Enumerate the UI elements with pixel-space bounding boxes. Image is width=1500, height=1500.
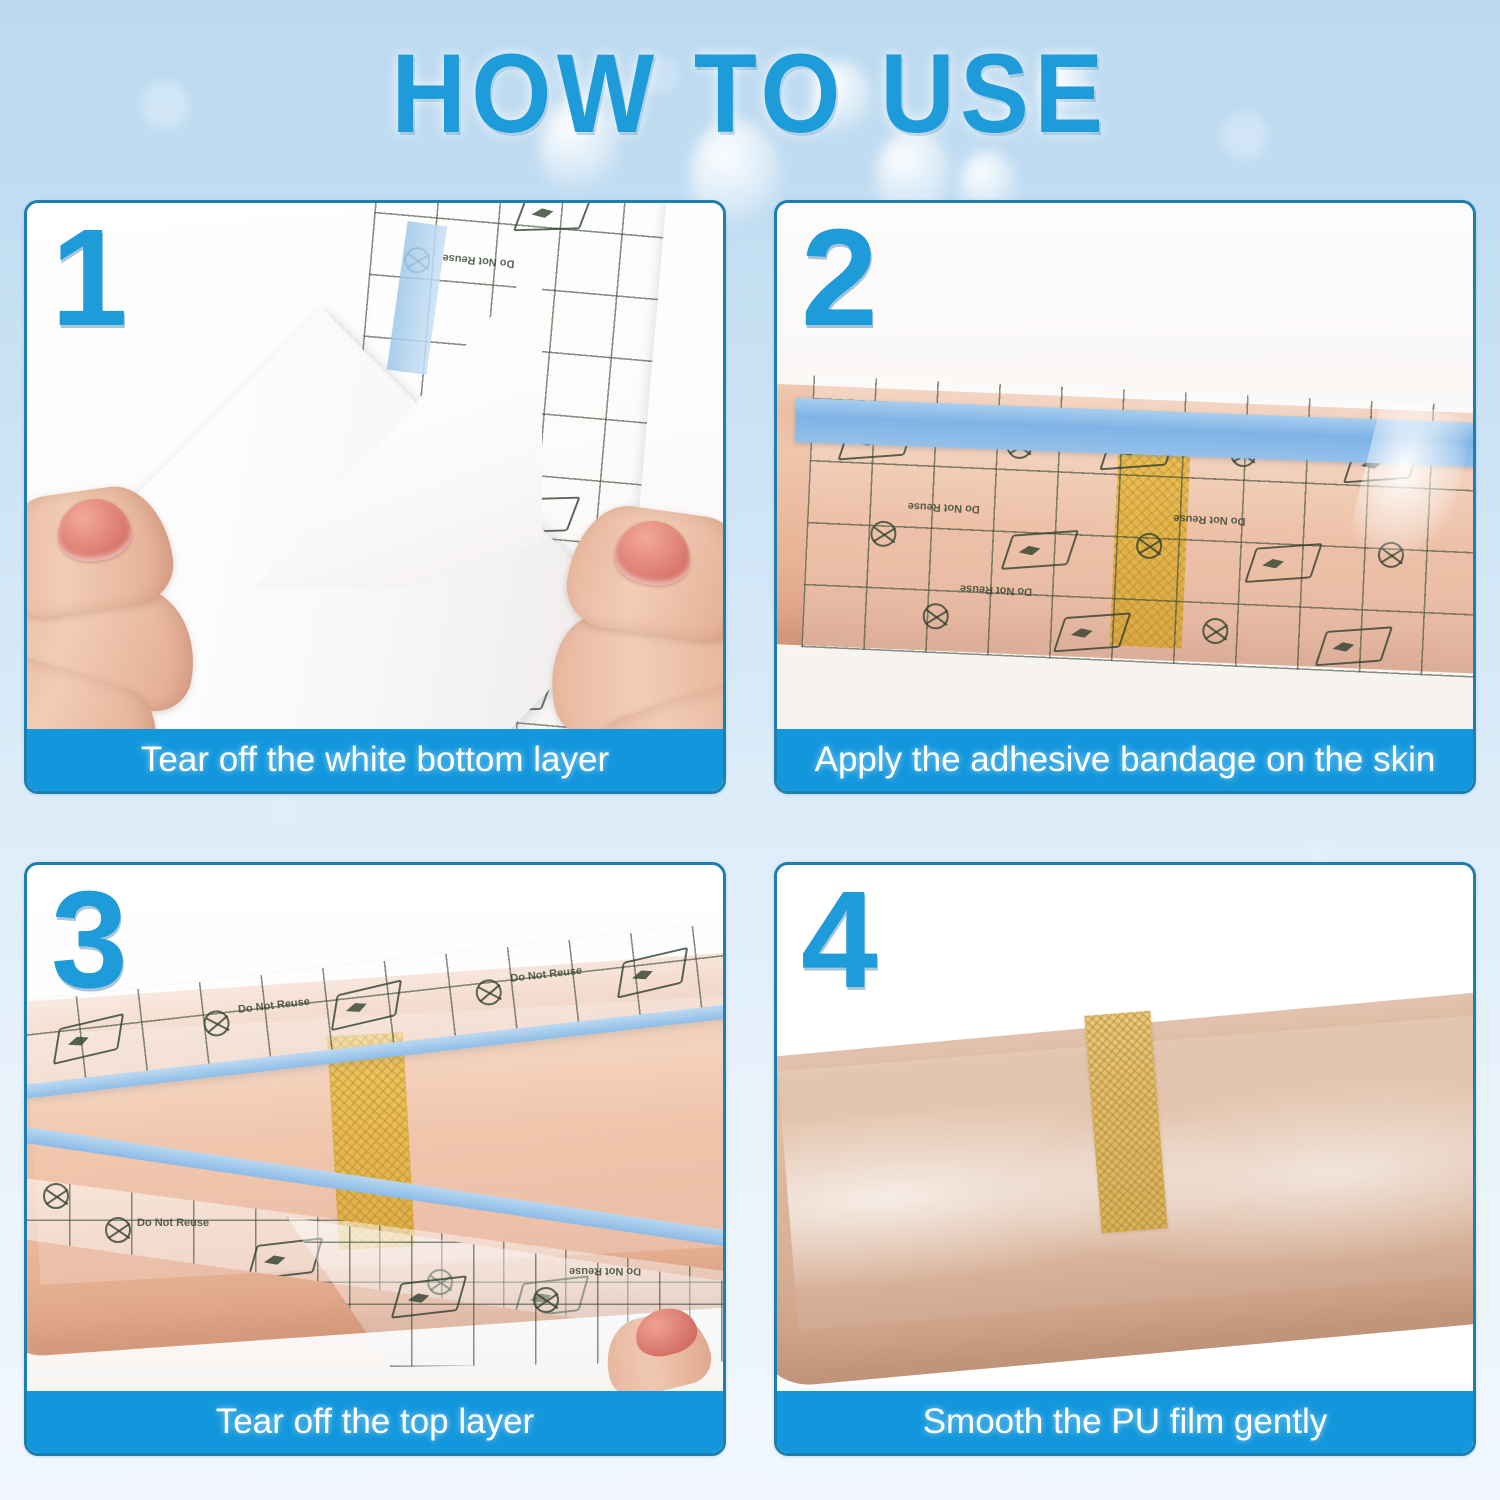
no-reuse-icon [1202, 617, 1229, 644]
no-reuse-icon [105, 1217, 131, 1243]
right-hand [453, 503, 723, 729]
peel-hand-icon [1053, 612, 1132, 652]
no-reuse-icon [43, 1183, 69, 1209]
peel-hand-icon [1244, 543, 1323, 583]
no-reuse-icon [533, 1287, 559, 1313]
left-hand [27, 483, 299, 729]
film-print-label: Do Not Reuse [237, 996, 310, 1016]
no-reuse-icon [1136, 532, 1163, 559]
gauze-pad [327, 1032, 415, 1250]
no-reuse-icon [474, 978, 503, 1007]
film-print-label: Do Not Reuse [510, 965, 583, 985]
step-panel-4[interactable]: 4 Smooth the PU film gently [774, 862, 1476, 1456]
step-4-photo [777, 865, 1473, 1391]
peel-hand-icon [513, 203, 593, 231]
peel-hand-icon [1314, 626, 1393, 666]
step-panel-3[interactable]: Do Not Reuse Do Not Reuse Do Not Reuse [24, 862, 726, 1456]
film-print-label: Do Not Reuse [137, 1217, 209, 1229]
peel-hand-icon [1001, 530, 1080, 570]
step-caption-4: Smooth the PU film gently [777, 1391, 1473, 1453]
peel-hand-icon [617, 947, 688, 999]
film-print-label: Do Not Reuse [960, 582, 1033, 597]
page-title: HOW TO USE [60, 38, 1440, 150]
step-2-photo: Do Not Reuse Do Not Reuse Do Not Reuse D… [777, 203, 1473, 729]
step-caption-1: Tear off the white bottom layer [27, 729, 723, 791]
steps-grid: Do Not Reuse Do Not Reuse Do Not Reuse [24, 200, 1476, 1475]
no-reuse-icon [922, 603, 949, 630]
no-reuse-icon [870, 520, 897, 547]
step-caption-2: Apply the adhesive bandage on the skin [777, 729, 1473, 791]
film-print-label: Do Not Reuse [442, 251, 515, 269]
peel-hand-icon [391, 1275, 468, 1319]
no-reuse-icon [202, 1009, 231, 1038]
film-print-label: Do Not Reuse [1173, 512, 1246, 527]
step-panel-1[interactable]: Do Not Reuse Do Not Reuse Do Not Reuse [24, 200, 726, 794]
step-1-photo: Do Not Reuse Do Not Reuse Do Not Reuse [27, 203, 723, 729]
peel-hand-icon [331, 979, 402, 1031]
fingertip [605, 1297, 715, 1389]
step-3-photo: Do Not Reuse Do Not Reuse Do Not Reuse [27, 865, 723, 1391]
peel-hand-icon [53, 1013, 124, 1065]
film-print-label: Do Not Reuse [907, 500, 980, 515]
step-panel-2[interactable]: Do Not Reuse Do Not Reuse Do Not Reuse D… [774, 200, 1476, 794]
step-caption-3: Tear off the top layer [27, 1391, 723, 1453]
